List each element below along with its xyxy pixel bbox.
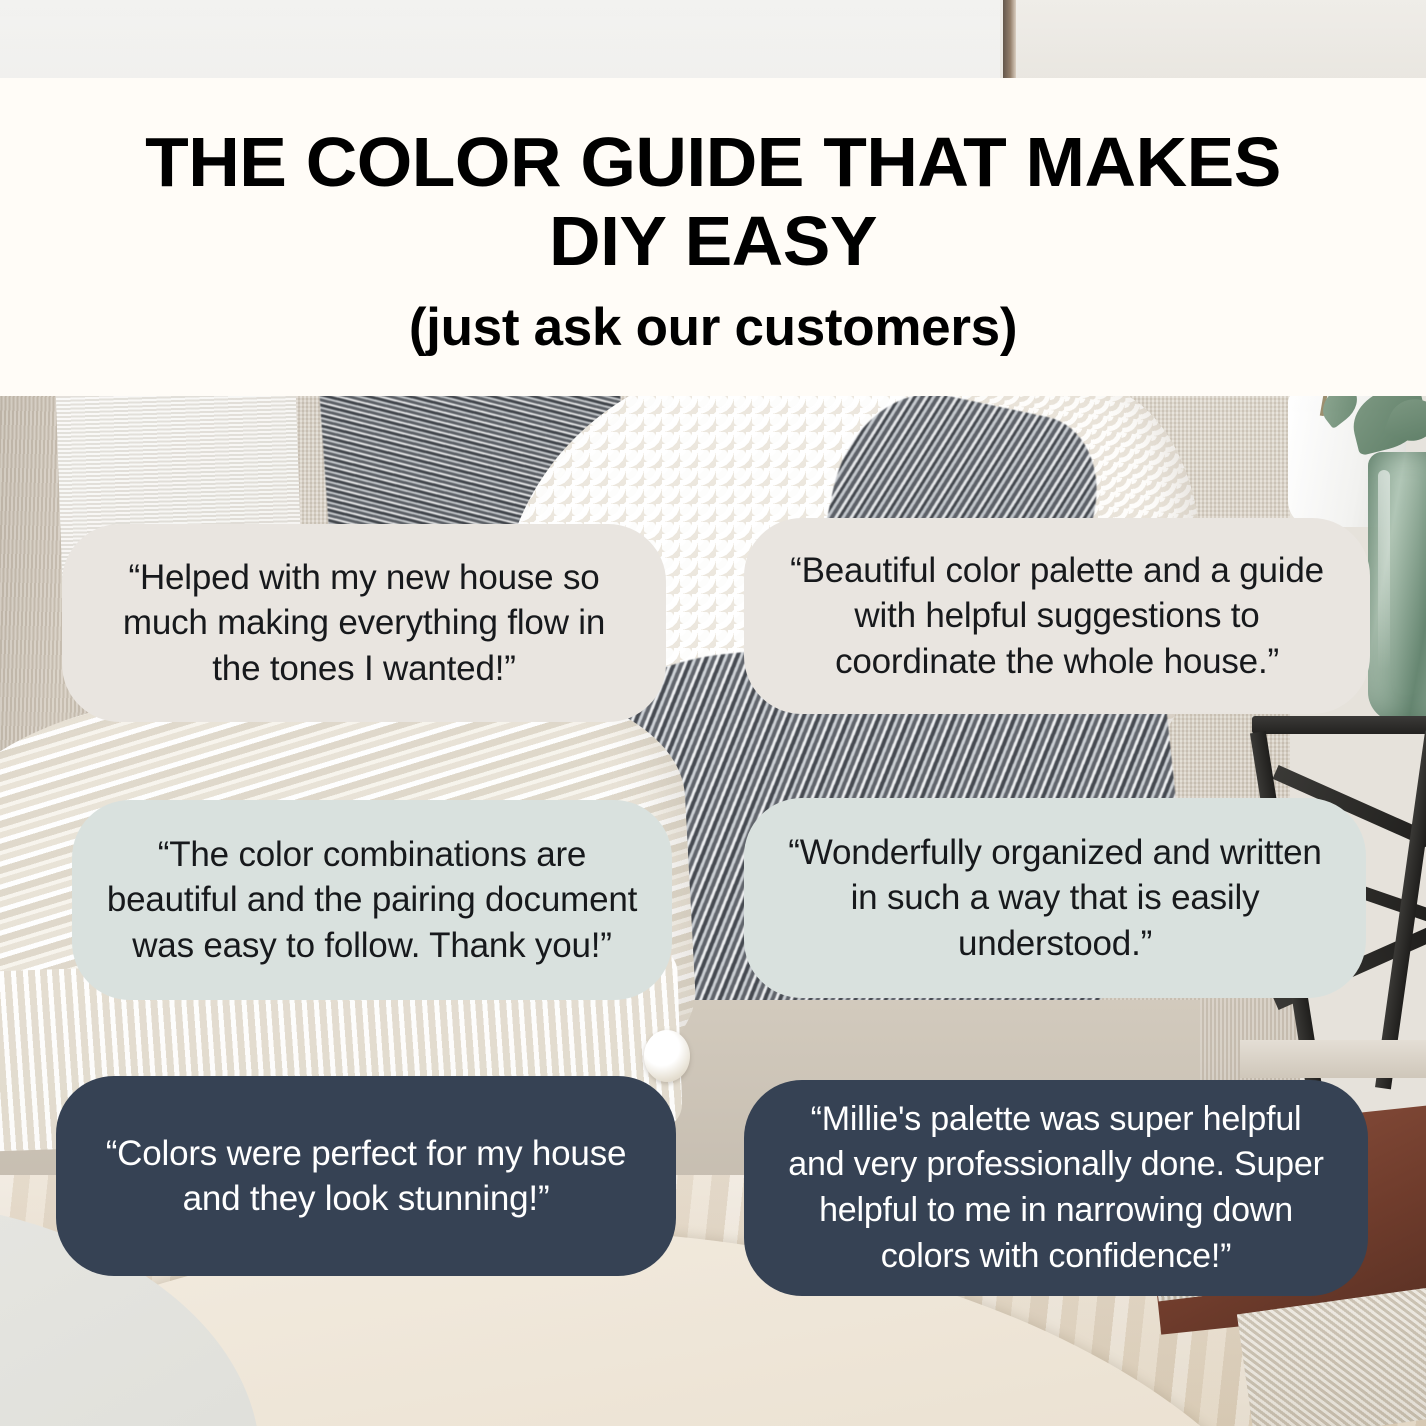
wall-upper-strip: [1000, 0, 1426, 86]
page-title: THE COLOR GUIDE THAT MAKES DIY EASY: [111, 123, 1315, 281]
testimonial-card: “The color combinations are beautiful an…: [72, 800, 672, 1000]
vase-green-glass: [1368, 452, 1426, 722]
testimonial-quote: “Colors were perfect for my house and th…: [90, 1131, 642, 1222]
testimonial-poster: THE COLOR GUIDE THAT MAKES DIY EASY (jus…: [0, 0, 1426, 1426]
testimonial-card: “Beautiful color palette and a guide wit…: [744, 518, 1370, 714]
baseboard: [1240, 1040, 1426, 1078]
throw-knot-detail: [644, 1030, 690, 1082]
testimonial-card: “Millie's palette was super helpful and …: [744, 1080, 1368, 1296]
picture-frame-edge: [1003, 0, 1016, 80]
testimonial-card: “Helped with my new house so much making…: [62, 524, 666, 722]
testimonial-quote: “Helped with my new house so much making…: [96, 555, 632, 692]
testimonial-quote: “Millie's palette was super helpful and …: [778, 1097, 1334, 1279]
testimonial-quote: “Beautiful color palette and a guide wit…: [778, 548, 1336, 685]
testimonial-card: “Wonderfully organized and written in su…: [744, 798, 1366, 998]
side-table-top: [1252, 716, 1426, 734]
page-subtitle: (just ask our customers): [409, 299, 1017, 357]
testimonial-card: “Colors were perfect for my house and th…: [56, 1076, 676, 1276]
header-band: THE COLOR GUIDE THAT MAKES DIY EASY (jus…: [0, 78, 1426, 396]
testimonial-quote: “Wonderfully organized and written in su…: [778, 830, 1332, 967]
testimonial-quote: “The color combinations are beautiful an…: [106, 832, 638, 969]
